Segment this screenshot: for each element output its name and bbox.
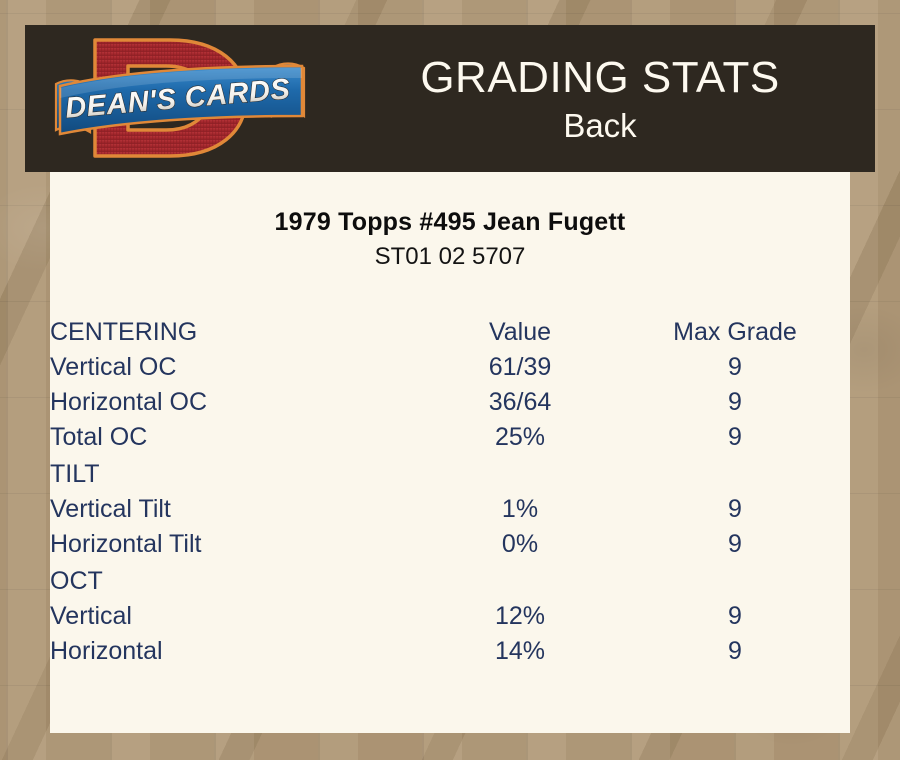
table-row: Horizontal14%9: [50, 631, 850, 666]
card-serial-number: ST01 02 5707: [50, 243, 850, 271]
card-heading: 1979 Topps #495 Jean Fugett: [50, 208, 850, 237]
column-header-max-grade: Max Grade: [620, 307, 850, 347]
table-row: Vertical12%9: [50, 596, 850, 631]
stat-value: 1%: [420, 489, 620, 524]
content-panel: 1979 Topps #495 Jean Fugett ST01 02 5707…: [50, 172, 850, 733]
stat-value: 36/64: [420, 382, 620, 417]
stat-value: 12%: [420, 596, 620, 631]
stat-label: Horizontal Tilt: [50, 524, 420, 559]
deans-cards-logo[interactable]: DEAN'S CARDS: [50, 28, 310, 168]
grading-stats-table: CENTERINGValueMax GradeVertical OC61/399…: [50, 307, 850, 666]
stat-value: 14%: [420, 631, 620, 666]
table-row: Vertical OC61/399: [50, 347, 850, 382]
column-header-section: CENTERING: [50, 307, 420, 347]
deans-cards-logo-icon: DEAN'S CARDS: [50, 28, 310, 168]
page-subtitle: Back: [563, 106, 636, 146]
table-row: Horizontal OC36/649: [50, 382, 850, 417]
stat-label: Horizontal OC: [50, 382, 420, 417]
page-title: GRADING STATS: [420, 52, 779, 104]
stat-max-grade: 9: [620, 631, 850, 666]
stat-max-grade: 9: [620, 596, 850, 631]
stat-value: 25%: [420, 417, 620, 452]
section-header-row: TILT: [50, 452, 850, 489]
stat-max-grade: 9: [620, 417, 850, 452]
column-header-value: Value: [420, 307, 620, 347]
table-row: Vertical Tilt1%9: [50, 489, 850, 524]
stat-label: Vertical: [50, 596, 420, 631]
stat-value: 61/39: [420, 347, 620, 382]
stat-label: Horizontal: [50, 631, 420, 666]
stat-value: 0%: [420, 524, 620, 559]
stat-max-grade: 9: [620, 347, 850, 382]
stat-max-grade: 9: [620, 382, 850, 417]
section-title: OCT: [50, 559, 420, 596]
stat-max-grade: 9: [620, 489, 850, 524]
stat-max-grade: 9: [620, 524, 850, 559]
section-title: TILT: [50, 452, 420, 489]
section-header-row: OCT: [50, 559, 850, 596]
stat-label: Vertical OC: [50, 347, 420, 382]
table-header-row: CENTERINGValueMax Grade: [50, 307, 850, 347]
header-bar: DEAN'S CARDS GRADING STATS Back: [25, 25, 875, 172]
table-row: Total OC25%9: [50, 417, 850, 452]
stat-label: Total OC: [50, 417, 420, 452]
stat-label: Vertical Tilt: [50, 489, 420, 524]
header-title-block: GRADING STATS Back: [325, 25, 875, 172]
table-row: Horizontal Tilt0%9: [50, 524, 850, 559]
